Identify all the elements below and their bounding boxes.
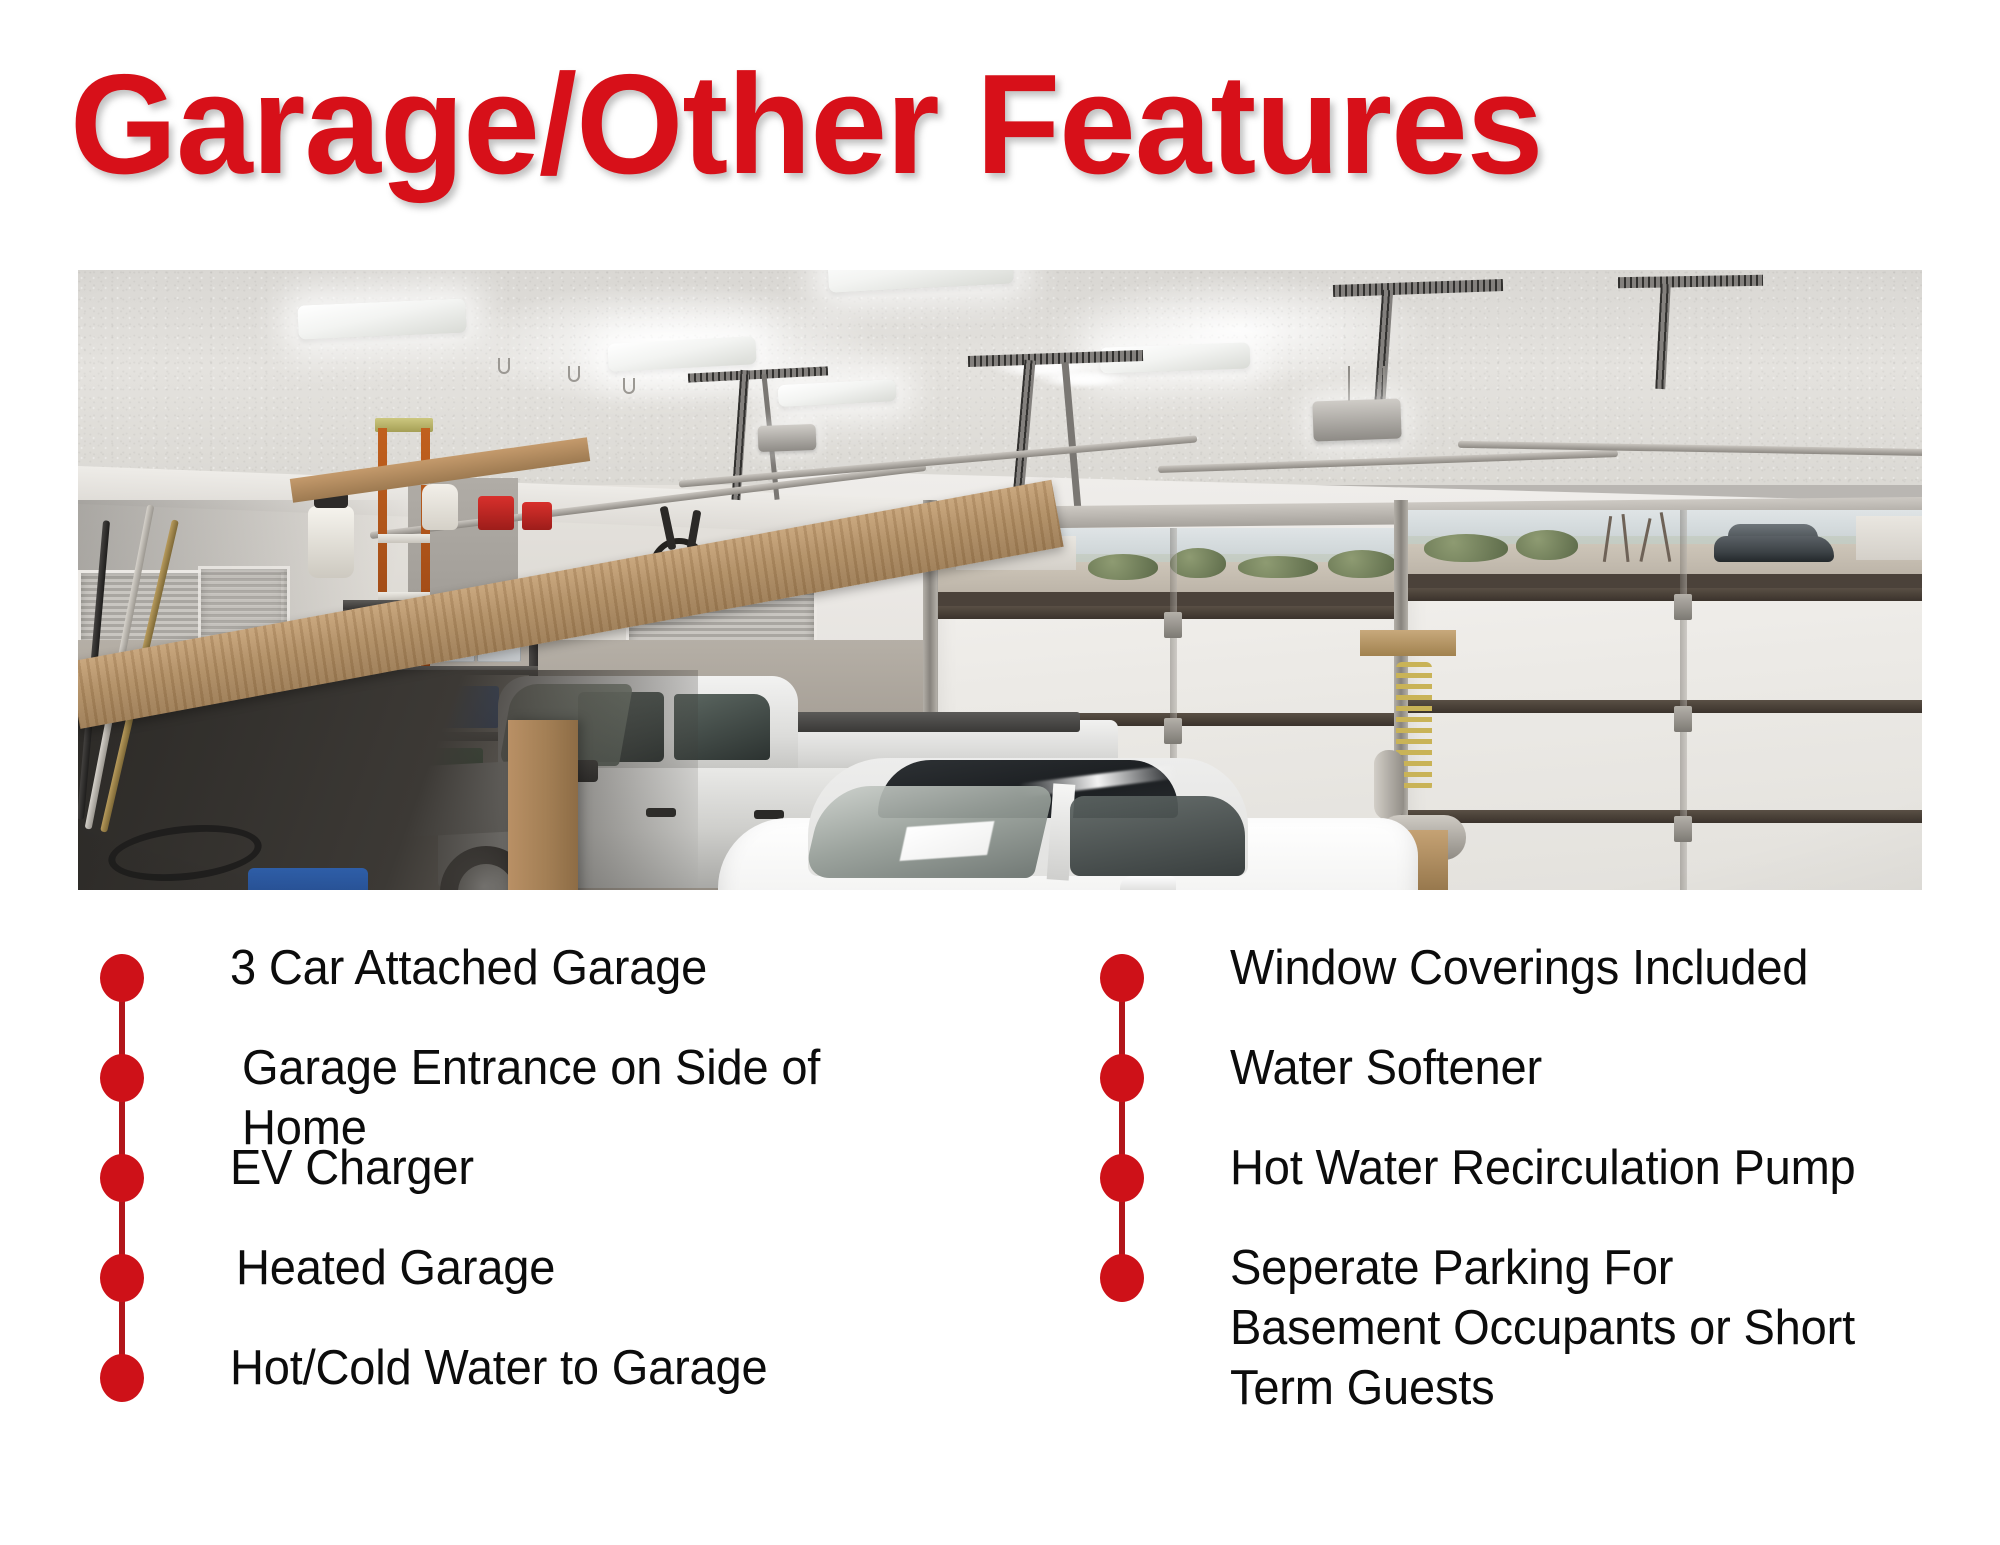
feature-item-seperate-parking[interactable]: Seperate Parking For Basement Occupants … [1100,1230,1980,1350]
bullet-dot-icon [1100,1154,1144,1202]
exterior-shrub [1424,534,1508,562]
garage-door-hinge [1674,816,1692,842]
bullet-dot-icon [100,1054,144,1102]
exterior-shrub [1238,556,1318,578]
sedan-windshield-reflection [900,821,995,861]
truck-bed-cargo [750,712,1080,732]
garage-door-hinge [1164,718,1182,744]
exterior-house [1856,516,1922,560]
feature-item-hot-cold-water-to-garage[interactable]: Hot/Cold Water to Garage [100,1330,980,1430]
garage-door-rail [1408,588,1922,601]
opener-cord [1348,366,1350,404]
bullet-dot-icon [100,954,144,1002]
bullet-dot-icon [100,1354,144,1402]
feature-label: Hot Water Recirculation Pump [1230,1130,1856,1198]
feature-item-ev-charger[interactable]: EV Charger [100,1130,980,1230]
feature-label: 3 Car Attached Garage [230,930,707,998]
ladder-step [378,534,430,543]
wood-railing-post [508,720,578,890]
garage-door-opener [758,424,817,452]
exterior-parked-car [1714,536,1834,562]
page-title: Garage/Other Features [70,50,1894,200]
garage-door [1403,510,1922,890]
wall-mounted-board [1360,630,1456,656]
feature-item-window-coverings-included[interactable]: Window Coverings Included [1100,930,1980,1030]
garden-sprayer [308,506,354,578]
feature-label: Water Softener [1230,1030,1542,1098]
bullet-dot-icon [100,1254,144,1302]
bullet-dot-icon [1100,1254,1144,1302]
sedan-mirror [1120,876,1176,890]
feature-item-water-softener[interactable]: Water Softener [1100,1030,1980,1130]
features-section: 3 Car Attached Garage Garage Entrance on… [0,930,2000,1490]
bullet-dot-icon [1100,1054,1144,1102]
bullet-dot-icon [1100,954,1144,1002]
garage-door-hinge [1674,706,1692,732]
exterior-shrub [1170,548,1226,578]
features-left-column: 3 Car Attached Garage Garage Entrance on… [100,930,980,1430]
exterior-shrub [1516,530,1578,560]
feature-item-hot-water-recirculation-pump[interactable]: Hot Water Recirculation Pump [1100,1130,1980,1230]
feature-label: Window Coverings Included [1230,930,1808,998]
garage-door-rail [1408,700,1922,713]
feature-item-heated-garage[interactable]: Heated Garage [100,1230,980,1330]
feature-label: EV Charger [230,1130,474,1198]
ceiling-hook-icon [568,366,580,382]
feature-label: Hot/Cold Water to Garage [230,1330,767,1398]
bullet-dot-icon [100,1154,144,1202]
garage-door-opener [1312,398,1401,441]
exterior-shrub [1088,554,1158,580]
ceiling-hook-icon [623,378,635,394]
features-right-column: Window Coverings Included Water Softener… [1100,930,1980,1350]
garage-photo-scene [78,270,1922,890]
electric-sedan [718,748,1418,890]
feature-label: Seperate Parking For Basement Occupants … [1230,1230,1855,1418]
garage-door-rail [1408,810,1922,823]
garage-photo [78,270,1922,890]
feature-label: Heated Garage [236,1230,555,1298]
gas-can [478,496,514,530]
plastic-jug [422,484,458,530]
garage-door-window-row [1408,510,1922,588]
feature-item-garage-entrance-on-side-of-home[interactable]: Garage Entrance on Side of Home [100,1030,980,1130]
garage-door-hinge [1164,612,1182,638]
led-light-glare [1038,370,1128,388]
garage-door-hinge [1674,594,1692,620]
ceiling-hook-icon [498,358,510,374]
sedan-side-window [1070,796,1245,876]
exterior-shrub [1328,550,1396,578]
gas-can [522,502,552,530]
blue-tub [248,868,368,890]
feature-item-3-car-attached-garage[interactable]: 3 Car Attached Garage [100,930,980,1030]
